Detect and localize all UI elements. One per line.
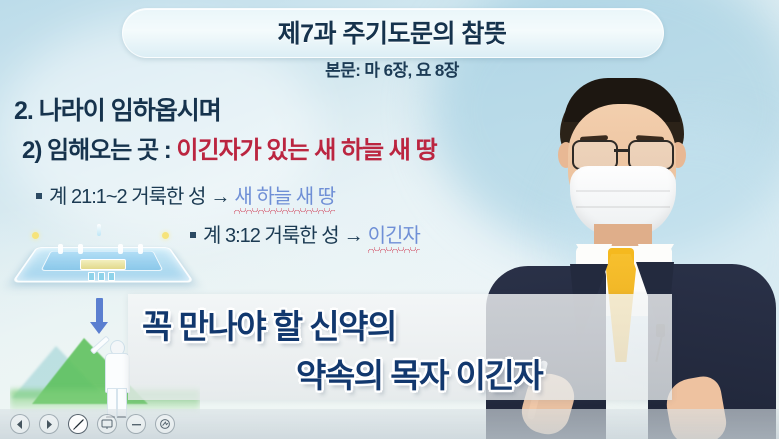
subheading-prefix: 2) 임해오는 곳 :	[22, 137, 176, 164]
bullet-item-2: 계 3:12 거룩한 성→이긴자	[190, 219, 420, 248]
outline-heading: 2. 나라이 임하옵시며	[14, 91, 221, 127]
outline-subheading: 2) 임해오는 곳 : 이긴자가 있는 새 하늘 새 땅	[22, 130, 437, 165]
subheading-highlight: 이긴자가 있는 새 하늘 새 땅	[176, 137, 436, 164]
city-pillar	[58, 244, 63, 254]
bullet-2-result: 이긴자	[368, 225, 420, 248]
city-gate	[98, 272, 105, 281]
bullet-1-reference: 계 21:1~2 거룩한 성	[49, 186, 205, 208]
city-altar	[80, 259, 126, 270]
arrow-right-icon-1: →	[210, 186, 229, 208]
glasses-icon	[572, 140, 672, 168]
chevron-left-icon	[16, 420, 24, 429]
city-light-spark	[32, 232, 39, 239]
arrow-right-icon-2: →	[344, 225, 363, 247]
laser-pointer-icon	[159, 418, 171, 430]
caption-line-2: 약속의 목자 이긴자	[296, 349, 542, 397]
caption-line-1: 꼭 만나야 할 신약의	[142, 300, 396, 348]
pointer-tool-button[interactable]	[155, 414, 175, 434]
holy-city-icon	[26, 228, 176, 294]
city-pillar	[138, 244, 143, 254]
city-spire	[97, 224, 101, 236]
city-pillar	[78, 244, 83, 254]
mask-fold-upper	[576, 190, 670, 192]
city-light-spark	[162, 232, 169, 239]
minus-button[interactable]	[126, 414, 146, 434]
page-title: 제7과 주기도문의 참뜻	[122, 8, 662, 56]
whiteboard-icon	[101, 419, 113, 430]
chevron-right-icon	[45, 420, 53, 429]
bullet-2-reference: 계 3:12 거룩한 성	[203, 225, 339, 247]
pen-tool-button[interactable]	[68, 414, 88, 434]
city-gate	[108, 272, 115, 281]
glasses-bridge	[614, 149, 630, 152]
pen-icon	[72, 418, 85, 431]
scripture-reference-subtitle: 본문: 마 6장, 요 8장	[122, 56, 662, 81]
player-toolbar[interactable]	[0, 409, 779, 439]
next-button[interactable]	[39, 414, 59, 434]
city-gate	[88, 272, 95, 281]
mask-fold-lower	[576, 206, 670, 208]
bullet-1-result: 새 하늘 새 땅	[234, 186, 335, 209]
bullet-item-1: 계 21:1~2 거룩한 성→새 하늘 새 땅	[36, 180, 335, 209]
lecture-slide-frame: 제7과 주기도문의 참뜻 본문: 마 6장, 요 8장 2. 나라이 임하옵시며…	[0, 0, 779, 439]
minus-icon	[131, 423, 142, 426]
board-tool-button[interactable]	[97, 414, 117, 434]
bullet-square-icon	[36, 193, 42, 199]
prev-button[interactable]	[10, 414, 30, 434]
city-pillar	[118, 244, 123, 254]
figure-body	[105, 353, 130, 393]
descending-arrow-shaft	[96, 298, 103, 324]
